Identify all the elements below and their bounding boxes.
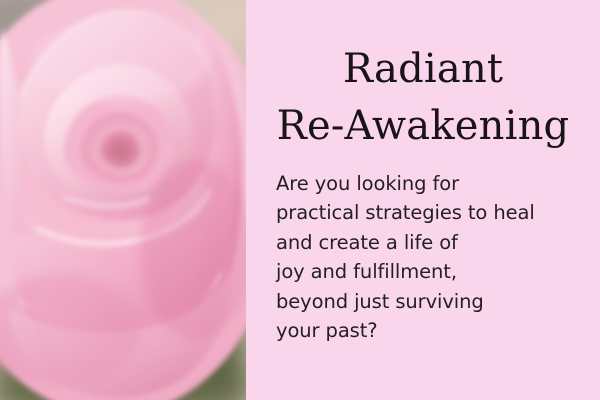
page-title: Radiant Re-Awakening [246, 41, 600, 155]
text-panel: Radiant Re-Awakening Are you looking for… [246, 0, 600, 400]
body-paragraph: Are you looking for practical strategies… [276, 169, 596, 346]
promo-graphic: Radiant Re-Awakening Are you looking for… [0, 0, 600, 400]
rose-photo [0, 0, 246, 400]
rose-illustration [0, 0, 246, 400]
